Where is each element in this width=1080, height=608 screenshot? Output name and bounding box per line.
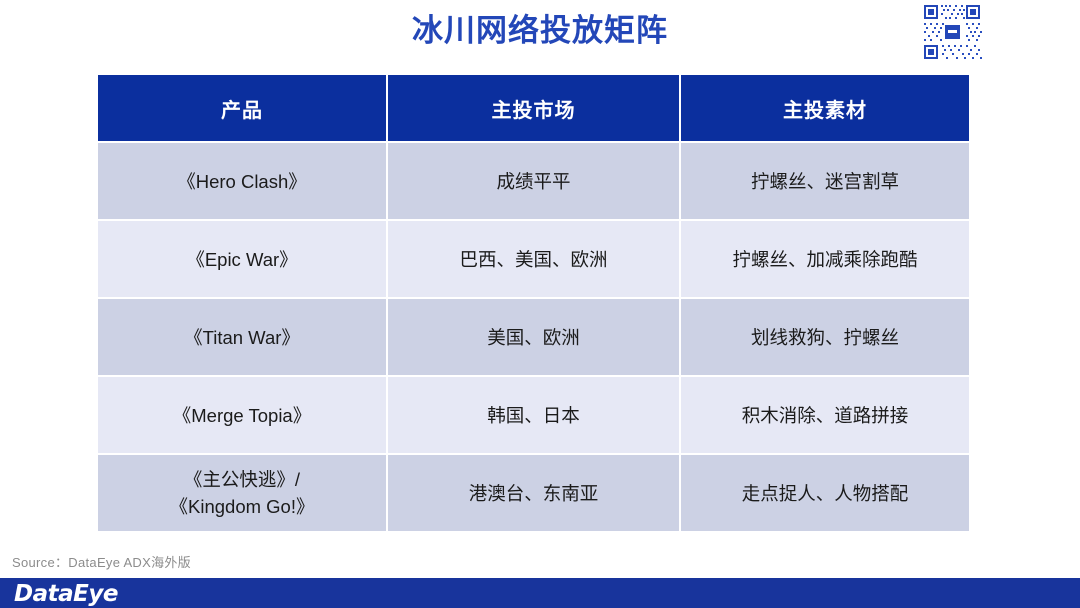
column-header-creative: 主投素材 <box>681 75 969 141</box>
column-header-product: 产品 <box>98 75 386 141</box>
cell-product: 《主公快逃》/ 《Kingdom Go!》 <box>98 455 386 531</box>
cell-creative: 积木消除、道路拼接 <box>681 377 969 453</box>
cell-creative: 拧螺丝、加减乘除跑酷 <box>681 221 969 297</box>
cell-market: 港澳台、东南亚 <box>388 455 679 531</box>
table-row: 《主公快逃》/ 《Kingdom Go!》 港澳台、东南亚 走点捉人、人物搭配 <box>98 455 969 531</box>
cell-creative: 走点捉人、人物搭配 <box>681 455 969 531</box>
cell-creative: 划线救狗、拧螺丝 <box>681 299 969 375</box>
table-header-row: 产品 主投市场 主投素材 <box>98 75 969 141</box>
cell-market: 巴西、美国、欧洲 <box>388 221 679 297</box>
ad-matrix-table: 产品 主投市场 主投素材 《Hero Clash》 成绩平平 拧螺丝、迷宫割草 … <box>96 73 971 533</box>
cell-creative: 拧螺丝、迷宫割草 <box>681 143 969 219</box>
table-row: 《Merge Topia》 韩国、日本 积木消除、道路拼接 <box>98 377 969 453</box>
qr-code-icon <box>920 2 984 62</box>
footer-bar: DataEye <box>0 578 1080 608</box>
cell-product: 《Epic War》 <box>98 221 386 297</box>
cell-product: 《Titan War》 <box>98 299 386 375</box>
source-note: Source：DataEye ADX海外版 <box>12 552 191 571</box>
cell-product: 《Hero Clash》 <box>98 143 386 219</box>
page-title: 冰川网络投放矩阵 <box>0 10 1080 52</box>
cell-product: 《Merge Topia》 <box>98 377 386 453</box>
table-row: 《Titan War》 美国、欧洲 划线救狗、拧螺丝 <box>98 299 969 375</box>
cell-product-line-1: 《主公快逃》/ <box>98 466 386 493</box>
cell-market: 韩国、日本 <box>388 377 679 453</box>
table-row: 《Hero Clash》 成绩平平 拧螺丝、迷宫割草 <box>98 143 969 219</box>
qr-code[interactable] <box>920 2 992 66</box>
cell-market: 成绩平平 <box>388 143 679 219</box>
cell-product-line-2: 《Kingdom Go!》 <box>98 493 386 520</box>
dataeye-logo: DataEye <box>14 581 118 607</box>
cell-market: 美国、欧洲 <box>388 299 679 375</box>
column-header-market: 主投市场 <box>388 75 679 141</box>
table-row: 《Epic War》 巴西、美国、欧洲 拧螺丝、加减乘除跑酷 <box>98 221 969 297</box>
